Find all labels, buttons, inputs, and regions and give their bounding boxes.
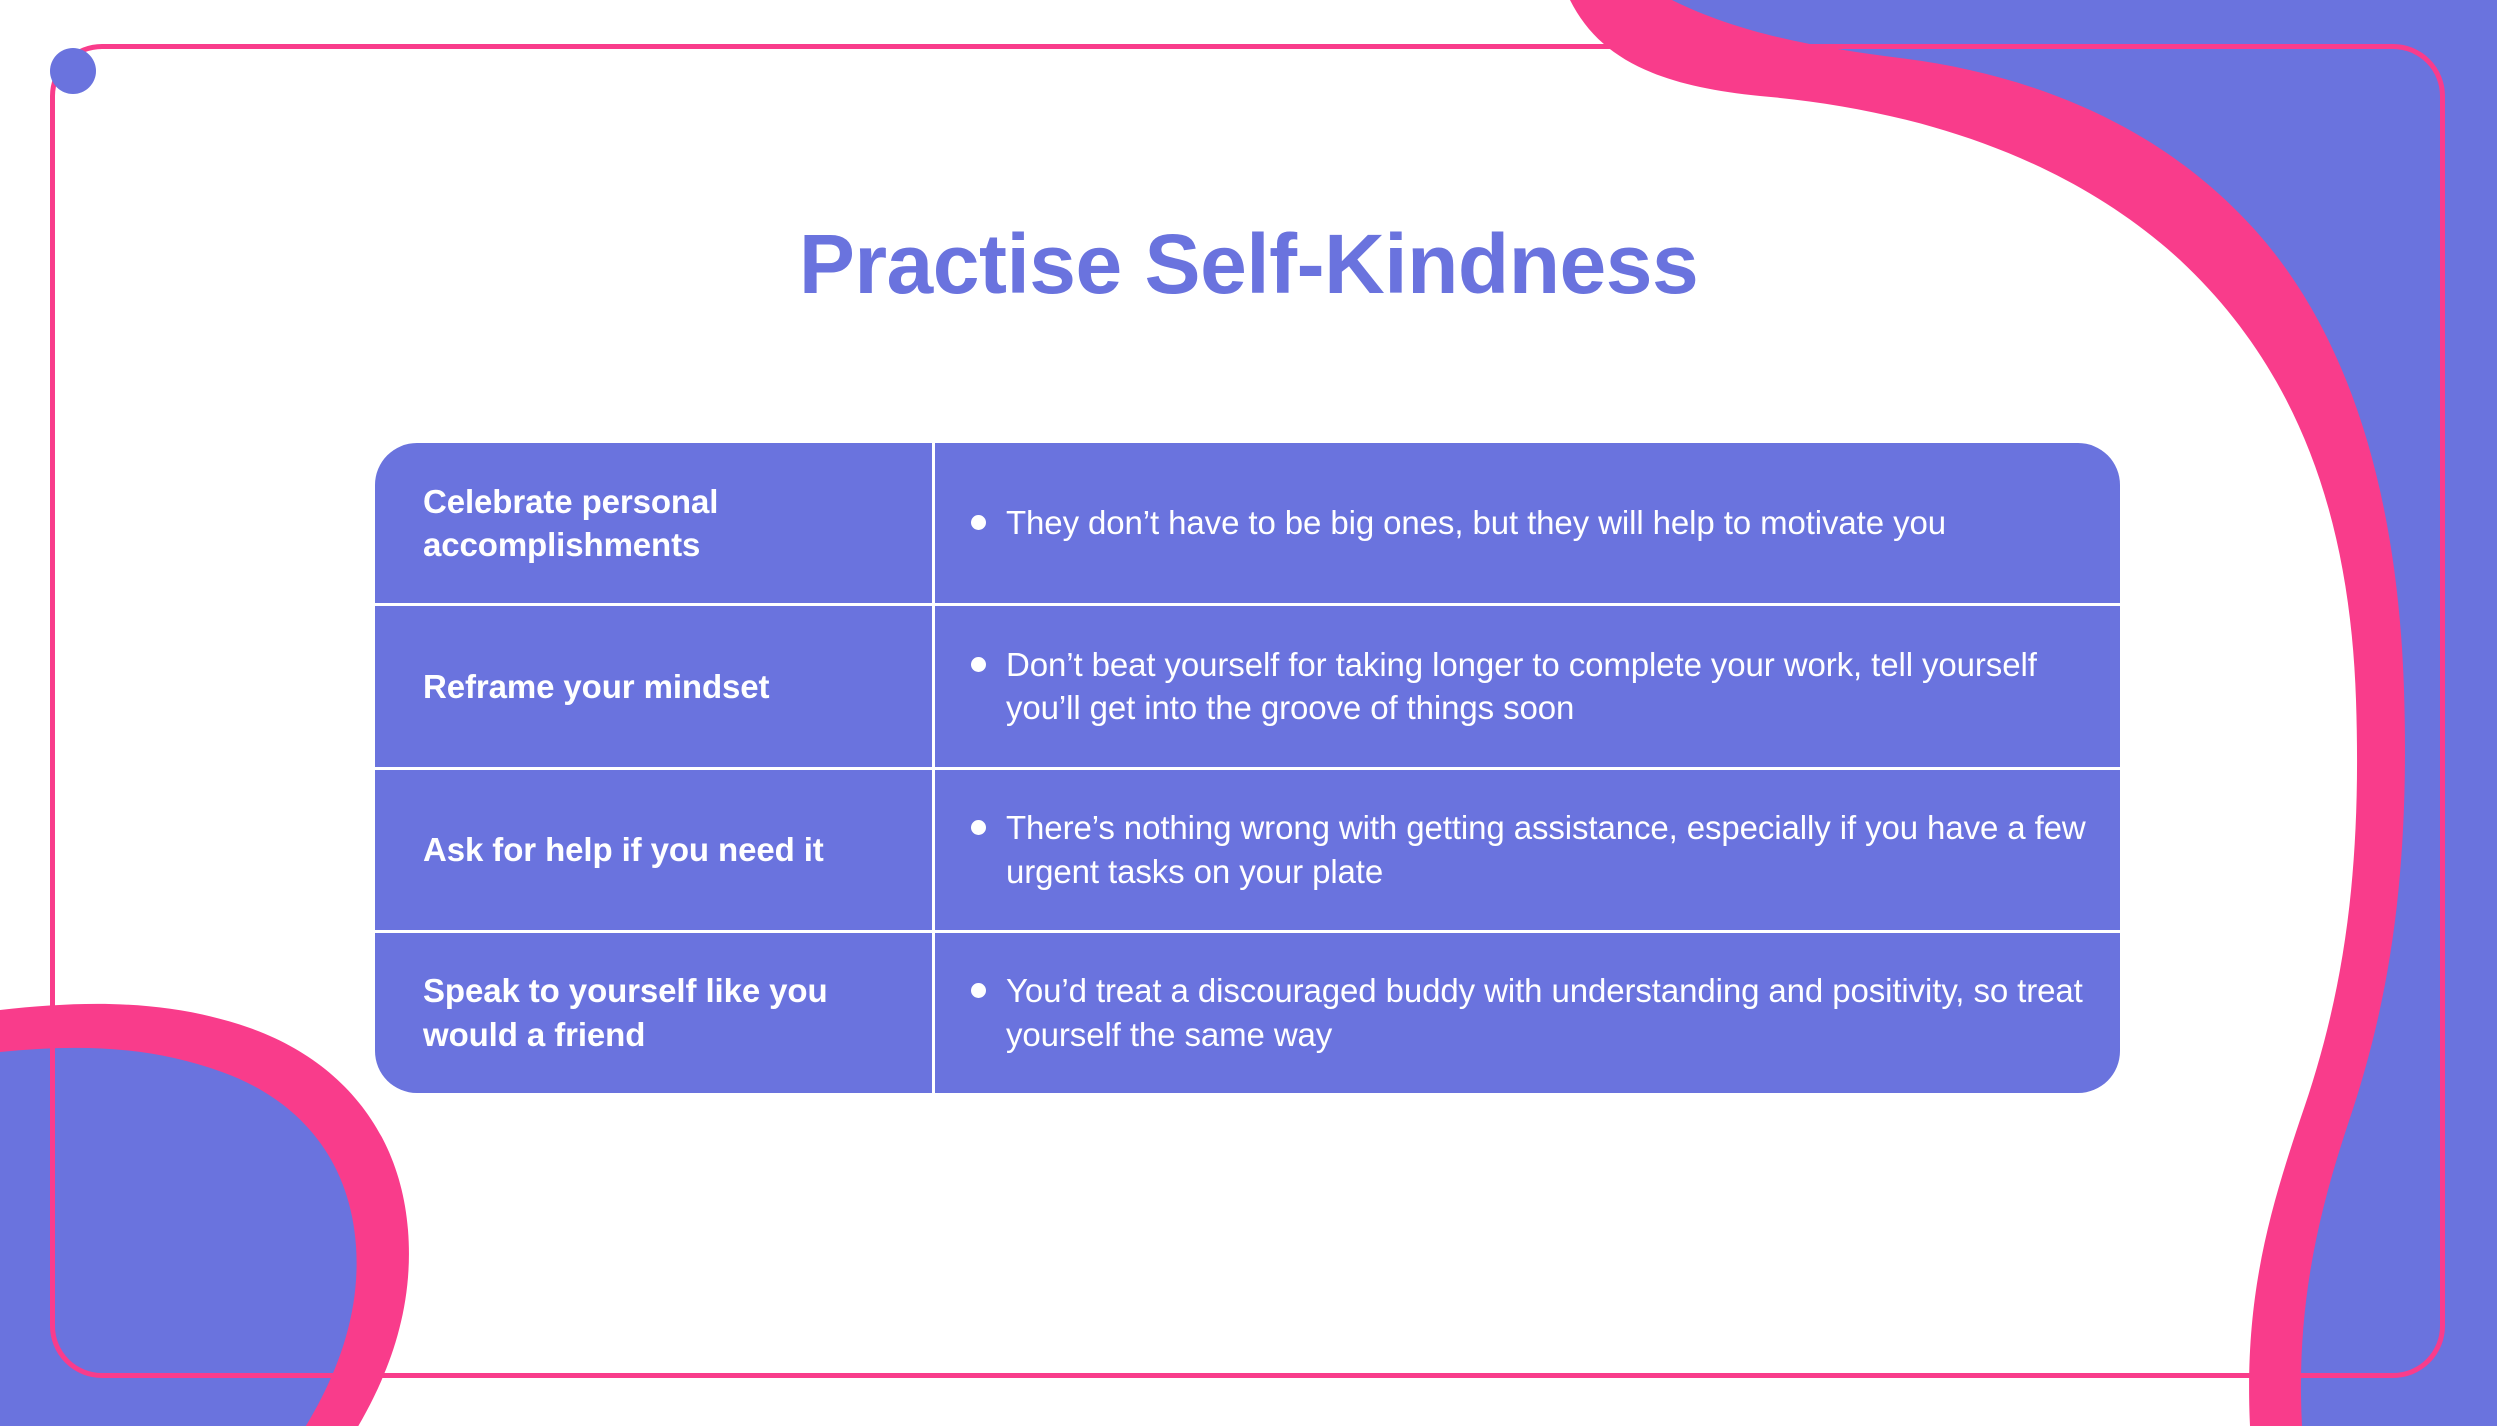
bullet-dot-icon <box>971 515 986 530</box>
table-row: Speak to yourself like you would a frien… <box>375 933 2120 1093</box>
bullet-item: They don’t have to be big ones, but they… <box>971 501 1946 545</box>
table-row-label-cell: Ask for help if you need it <box>375 770 935 930</box>
table-row-detail-cell: There’s nothing wrong with getting assis… <box>935 770 2120 930</box>
table-row-label: Celebrate personal accomplishments <box>423 480 888 567</box>
table-row-detail-cell: Don’t beat yourself for taking longer to… <box>935 606 2120 766</box>
table-row-detail: They don’t have to be big ones, but they… <box>1006 501 1946 545</box>
table-row-detail: You’d treat a discouraged buddy with und… <box>1006 969 2086 1056</box>
purple-dot-top-left-icon <box>50 48 96 94</box>
bullet-dot-icon <box>971 657 986 672</box>
bullet-item: There’s nothing wrong with getting assis… <box>971 806 2086 893</box>
table-row-label: Reframe your mindset <box>423 665 769 709</box>
table-row-label: Speak to yourself like you would a frien… <box>423 969 888 1056</box>
table-row: Celebrate personal accomplishments They … <box>375 443 2120 606</box>
table-row-label: Ask for help if you need it <box>423 828 824 872</box>
table-row: Ask for help if you need it There’s noth… <box>375 770 2120 933</box>
page-title: Practise Self-Kindness <box>0 218 2497 310</box>
table-row-detail-cell: They don’t have to be big ones, but they… <box>935 443 2120 603</box>
bullet-dot-icon <box>971 820 986 835</box>
table-row-label-cell: Reframe your mindset <box>375 606 935 766</box>
slide-canvas: Practise Self-Kindness Celebrate persona… <box>0 0 2497 1426</box>
table-row-label-cell: Speak to yourself like you would a frien… <box>375 933 935 1093</box>
table-row: Reframe your mindset Don’t beat yourself… <box>375 606 2120 769</box>
table-row-detail-cell: You’d treat a discouraged buddy with und… <box>935 933 2120 1093</box>
content-table: Celebrate personal accomplishments They … <box>375 443 2120 1093</box>
bullet-item: Don’t beat yourself for taking longer to… <box>971 643 2086 730</box>
table-row-detail: Don’t beat yourself for taking longer to… <box>1006 643 2086 730</box>
table-row-label-cell: Celebrate personal accomplishments <box>375 443 935 603</box>
table-row-detail: There’s nothing wrong with getting assis… <box>1006 806 2086 893</box>
bullet-dot-icon <box>971 983 986 998</box>
purple-dot-bottom-right-icon <box>2347 1288 2411 1352</box>
bullet-item: You’d treat a discouraged buddy with und… <box>971 969 2086 1056</box>
